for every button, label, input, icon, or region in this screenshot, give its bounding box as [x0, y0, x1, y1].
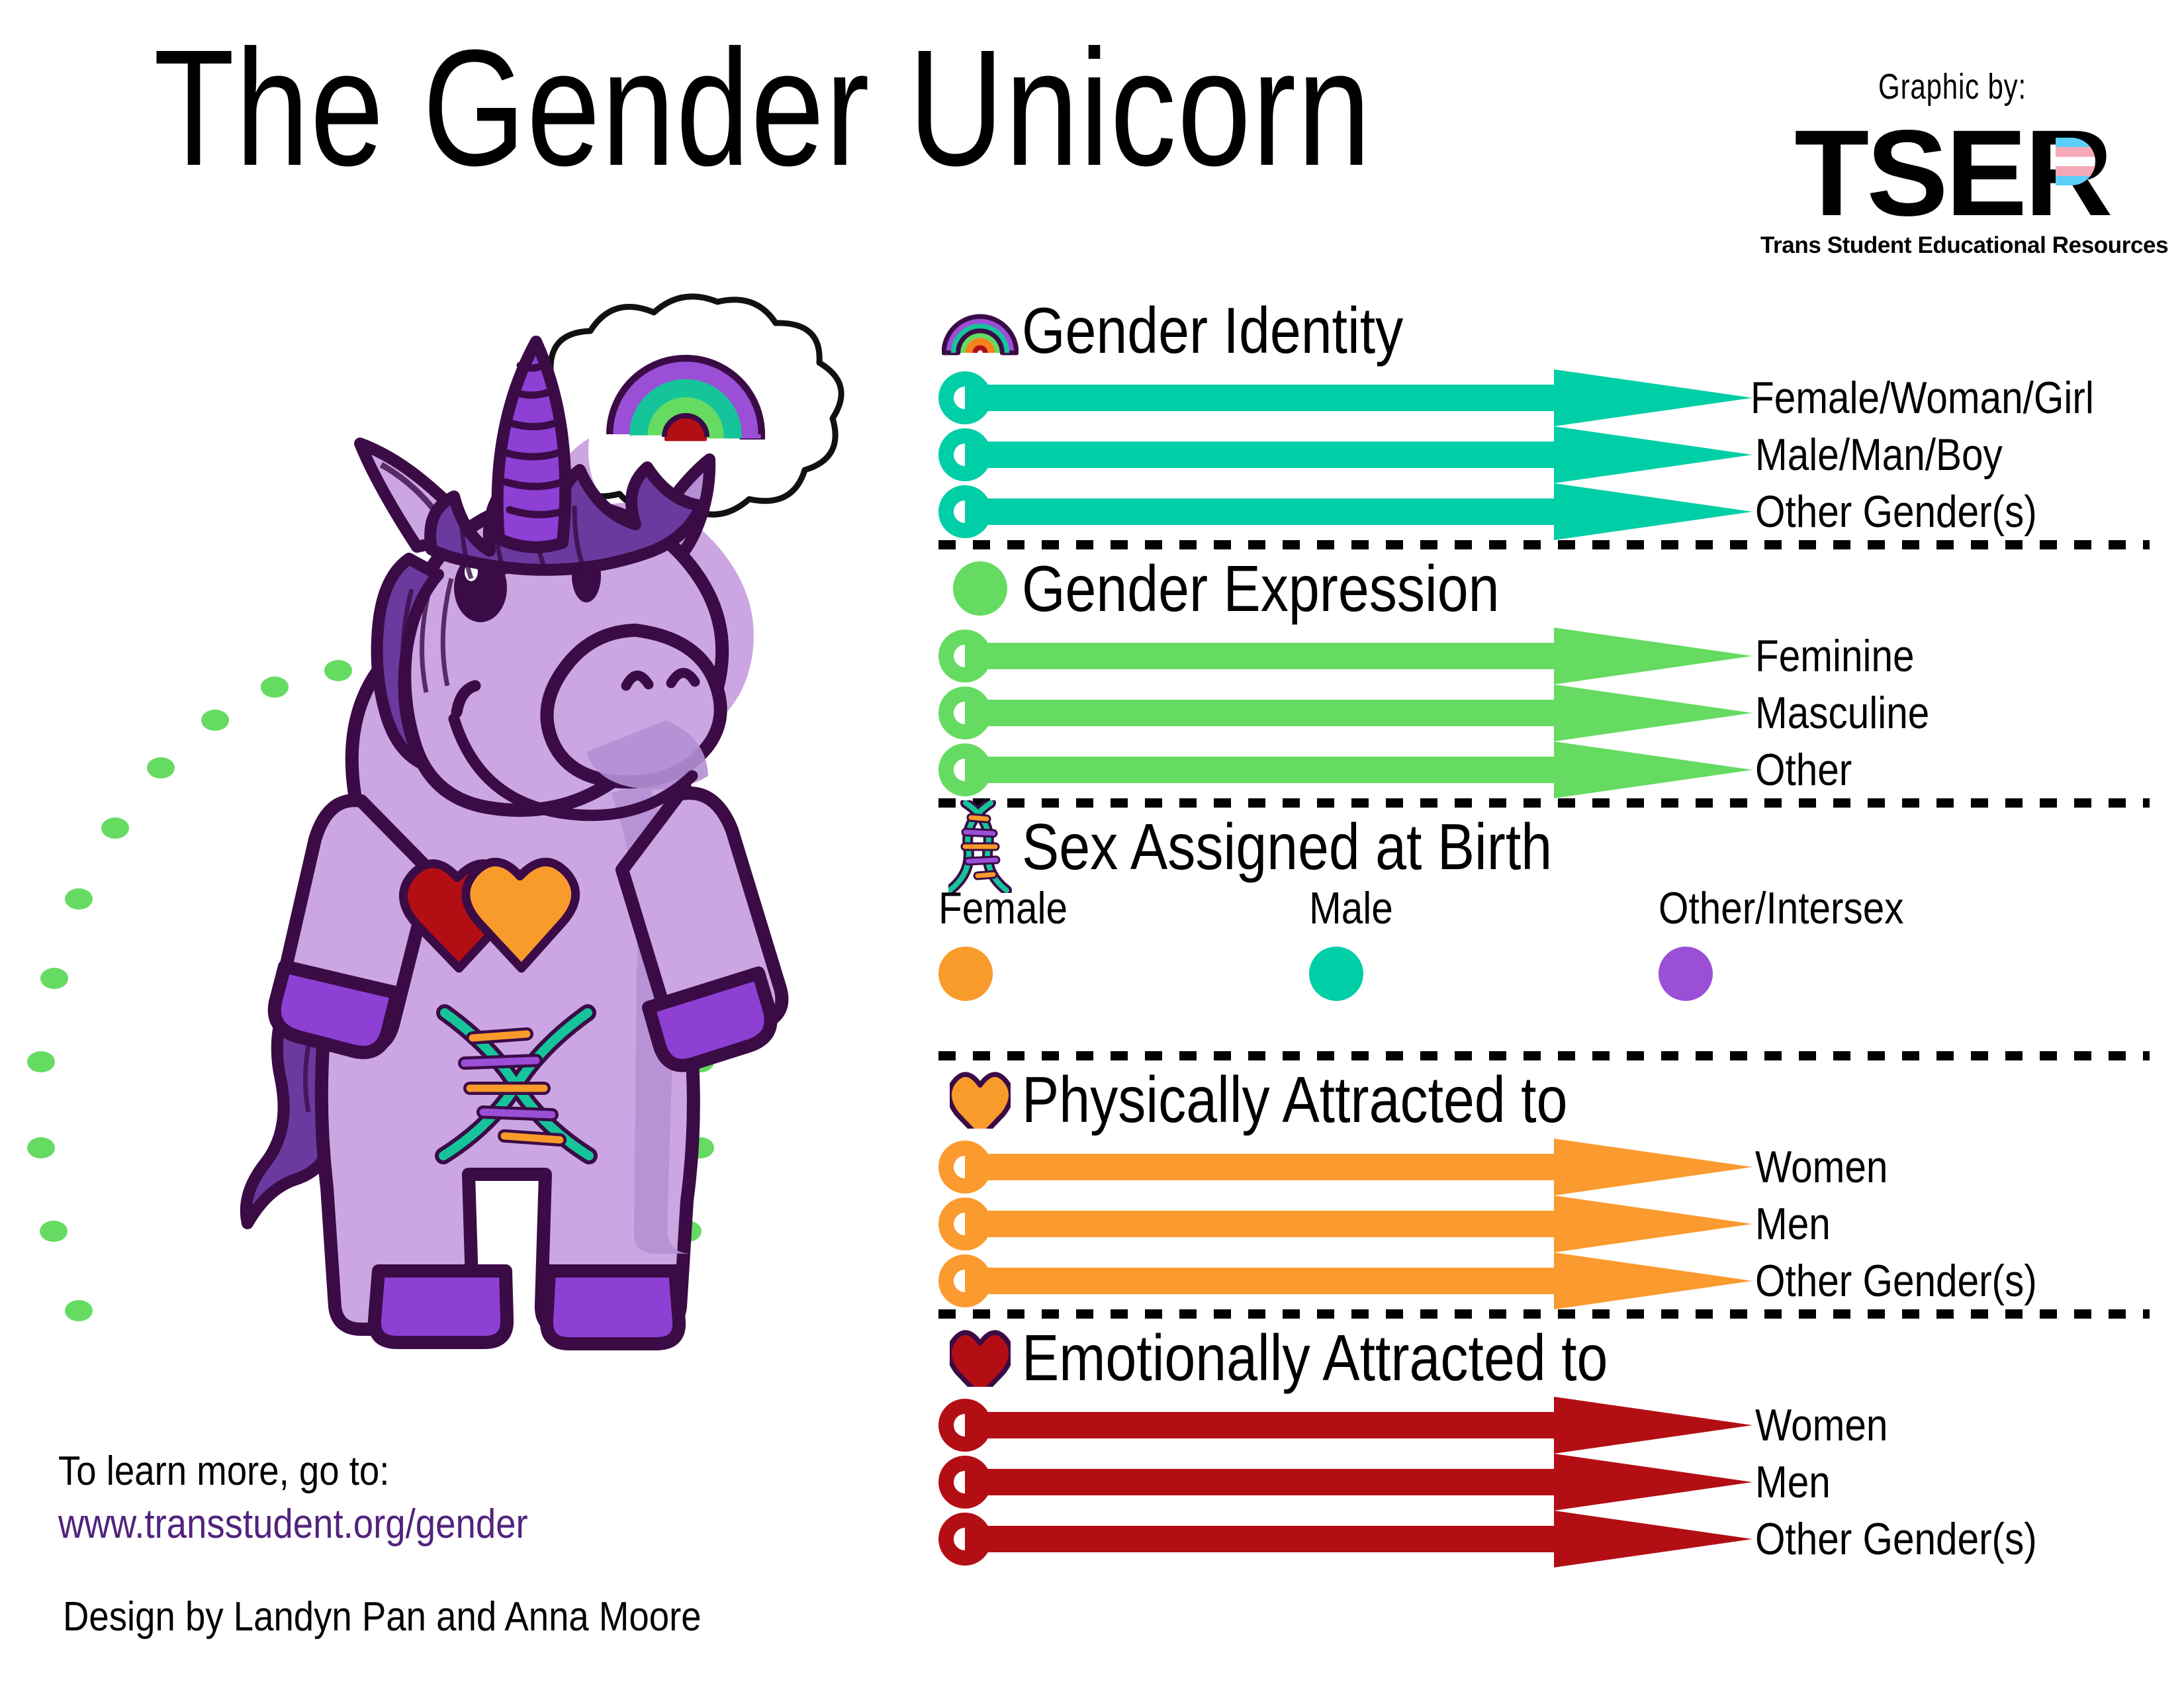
arrow-head-icon	[1554, 1511, 1752, 1568]
green-dot	[65, 888, 93, 910]
spectrum-row[interactable]: Other	[938, 741, 2150, 798]
spectrum-row[interactable]: Other Gender(s)	[938, 483, 2150, 540]
sex-option-dot[interactable]	[1309, 947, 1363, 1001]
green-dot	[27, 1051, 55, 1072]
red-heart-icon	[938, 1329, 1022, 1387]
spectrum-bar	[965, 643, 1561, 669]
spectrum-bar	[965, 700, 1561, 726]
spectrum-arrow[interactable]	[938, 1252, 1752, 1309]
spectrum-arrow[interactable]	[938, 1454, 1752, 1511]
sex-option-dot[interactable]	[1659, 947, 1713, 1001]
spectrum-arrow[interactable]	[938, 1511, 1752, 1568]
section-header-sex-assigned-at-birth: Sex Assigned at Birth	[938, 808, 2150, 886]
section-divider	[938, 540, 2150, 549]
arrow-head-icon	[1554, 684, 1752, 741]
spectrum-rows-gender-identity: Female/Woman/Girl Male/Man/Boy Other Gen…	[938, 369, 2150, 540]
spectrum-arrow[interactable]	[938, 741, 1752, 798]
arrow-head-icon	[1554, 628, 1752, 684]
arrow-head-icon	[1554, 741, 1752, 798]
spectrum-bar	[965, 1412, 1561, 1438]
sex-option-label: Male	[1309, 886, 1393, 931]
green-circle-icon	[938, 560, 1022, 617]
section-title-gender-expression: Gender Expression	[1022, 556, 1499, 621]
sex-option[interactable]: Other/Intersex	[1659, 886, 1944, 1001]
section-divider	[938, 798, 2150, 808]
spectrum-row-label: Female/Woman/Girl	[1751, 375, 2094, 420]
section-divider	[938, 1309, 2150, 1319]
orange-heart-icon	[938, 1070, 1022, 1129]
design-credit-label: Design by Landyn Pan and Anna Moore	[63, 1597, 702, 1638]
unicorn-right-leg-cuff	[547, 1271, 679, 1344]
tser-credit-block: Graphic by: TSER Trans Student Education…	[1760, 66, 2144, 259]
page-title: The Gender Unicorn	[154, 25, 1372, 191]
green-dot	[147, 757, 175, 778]
section-title-physically-attracted-to: Physically Attracted to	[1022, 1067, 1567, 1132]
spectrum-bar	[965, 385, 1561, 411]
spectrum-bar	[965, 1268, 1561, 1294]
spectrum-row-label: Masculine	[1755, 690, 1929, 735]
spectrum-row-label: Men	[1755, 1460, 1831, 1505]
spectrum-arrow[interactable]	[938, 426, 1752, 483]
sex-options-grid: Female Male Other/Intersex	[938, 886, 2150, 1051]
spectrum-row[interactable]: Feminine	[938, 628, 2150, 684]
section-gender-identity: Gender Identity Female/Woman/Girl Male/M…	[938, 291, 2150, 540]
spectrum-bar	[965, 1154, 1561, 1180]
red-heart-icon	[950, 1329, 1011, 1387]
spectrum-bar	[965, 498, 1561, 525]
dna-icon	[948, 800, 1012, 893]
section-header-gender-expression: Gender Expression	[938, 549, 2150, 628]
sex-option-label: Other/Intersex	[1659, 886, 1904, 931]
spectrum-arrow[interactable]	[938, 369, 1748, 426]
sex-option-label: Female	[938, 886, 1068, 931]
arrow-head-icon	[1554, 1454, 1752, 1511]
sex-option[interactable]: Female	[938, 886, 1089, 1001]
section-sex-assigned-at-birth: Sex Assigned at BirthFemale Male Other/I…	[938, 808, 2150, 1051]
spectrum-row[interactable]: Male/Man/Boy	[938, 426, 2150, 483]
spectrum-row[interactable]: Masculine	[938, 684, 2150, 741]
arrow-head-icon	[1554, 1139, 1752, 1196]
arrow-head-icon	[1554, 369, 1752, 426]
spectrum-bar	[965, 1526, 1561, 1552]
spectrum-row-label: Male/Man/Boy	[1755, 432, 2003, 477]
section-title-emotionally-attracted-to: Emotionally Attracted to	[1022, 1325, 1608, 1390]
spectrum-bar	[965, 442, 1561, 468]
section-gender-expression: Gender Expression Feminine Masculine	[938, 549, 2150, 798]
unicorn-left-leg-cuff	[375, 1271, 507, 1342]
sex-option[interactable]: Male	[1309, 886, 1406, 1001]
spectrum-row[interactable]: Men	[938, 1196, 2150, 1252]
spectrum-row[interactable]: Women	[938, 1139, 2150, 1196]
green-dot	[40, 968, 68, 989]
arrow-head-icon	[1554, 483, 1752, 540]
spectrum-row[interactable]: Men	[938, 1454, 2150, 1511]
spectrum-row-label: Feminine	[1755, 633, 1915, 679]
section-header-gender-identity: Gender Identity	[938, 291, 2150, 369]
green-dot	[40, 1221, 68, 1242]
spectrum-row-label: Other Gender(s)	[1755, 1517, 2037, 1562]
green-circle-icon	[952, 560, 1009, 617]
spectrum-row[interactable]: Female/Woman/Girl	[938, 369, 2150, 426]
spectrum-arrow[interactable]	[938, 684, 1752, 741]
spectrum-arrow[interactable]	[938, 1397, 1752, 1454]
arrow-head-icon	[1554, 426, 1752, 483]
spectrum-row-label: Women	[1755, 1403, 1888, 1448]
graphic-by-label: Graphic by:	[1803, 66, 2102, 107]
section-header-physically-attracted-to: Physically Attracted to	[938, 1060, 2150, 1139]
green-dot	[27, 1137, 55, 1158]
rainbow-icon	[938, 305, 1022, 355]
spectrum-bar	[965, 1211, 1561, 1237]
section-header-emotionally-attracted-to: Emotionally Attracted to	[938, 1319, 2150, 1397]
section-title-gender-identity: Gender Identity	[1022, 298, 1403, 363]
spectrum-row-label: Other	[1755, 747, 1852, 792]
orange-heart-icon	[950, 1070, 1011, 1129]
spectrum-arrow[interactable]	[938, 1139, 1752, 1196]
spectrum-arrow[interactable]	[938, 628, 1752, 684]
gender-unicorn-infographic: The Gender Unicorn Graphic by: TSER Tran…	[0, 0, 2184, 1688]
spectrum-rows-emotionally-attracted-to: Women Men Other Gender(s)	[938, 1397, 2150, 1568]
spectrum-bar	[965, 757, 1561, 783]
section-divider	[938, 1051, 2150, 1060]
spectrum-arrow[interactable]	[938, 1196, 1752, 1252]
dna-icon	[938, 800, 1022, 893]
tser-logo-text: TSER	[1794, 111, 2110, 236]
spectrum-rows-physically-attracted-to: Women Men Other Gender(s)	[938, 1139, 2150, 1309]
transstudent-url-link[interactable]: www.transstudent.org/gender	[58, 1504, 528, 1545]
arrow-head-icon	[1554, 1196, 1752, 1252]
unicorn-illustration	[199, 291, 874, 1403]
spectrum-row[interactable]: Other Gender(s)	[938, 1511, 2150, 1568]
section-emotionally-attracted-to: Emotionally Attracted to Women Men	[938, 1319, 2150, 1568]
section-physically-attracted-to: Physically Attracted to Women Men	[938, 1060, 2150, 1309]
section-title-sex-assigned-at-birth: Sex Assigned at Birth	[1022, 814, 1552, 879]
spectrum-rows-gender-expression: Feminine Masculine Other	[938, 628, 2150, 798]
spectrum-row[interactable]: Women	[938, 1397, 2150, 1454]
spectrum-row-label: Men	[1755, 1201, 1831, 1246]
learn-more-label: To learn more, go to:	[58, 1451, 389, 1492]
spectrum-row-label: Women	[1755, 1145, 1888, 1190]
sections-column: Gender Identity Female/Woman/Girl Male/M…	[938, 291, 2150, 1568]
green-dot	[65, 1300, 93, 1321]
green-dot	[101, 818, 129, 839]
rainbow-icon	[942, 305, 1019, 355]
spectrum-bar	[965, 1469, 1561, 1495]
sex-option-dot[interactable]	[938, 947, 993, 1001]
arrow-head-icon	[1554, 1252, 1752, 1309]
spectrum-row-label: Other Gender(s)	[1755, 1258, 2037, 1303]
spectrum-row-label: Other Gender(s)	[1755, 489, 2037, 534]
spectrum-row[interactable]: Other Gender(s)	[938, 1252, 2150, 1309]
arrow-head-icon	[1554, 1397, 1752, 1454]
spectrum-arrow[interactable]	[938, 483, 1752, 540]
